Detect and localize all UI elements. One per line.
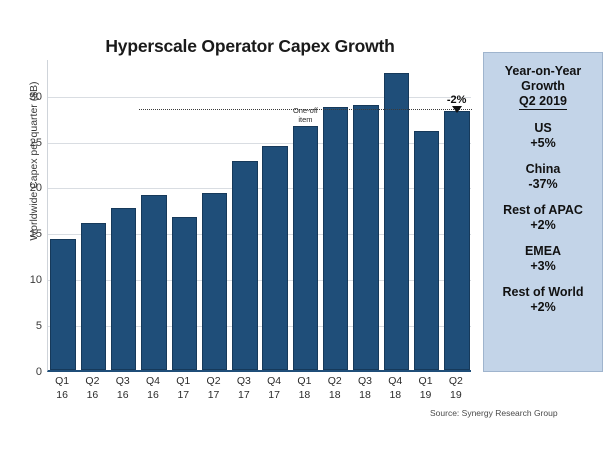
bar[interactable] — [202, 193, 227, 370]
bar-slot — [48, 60, 78, 370]
bar[interactable] — [81, 223, 106, 370]
bar-slot — [109, 60, 139, 370]
x-axis-tick-label: Q317 — [229, 374, 259, 402]
bar[interactable] — [384, 73, 409, 370]
bar-slot — [169, 60, 199, 370]
x-axis-tick-label: Q116 — [47, 374, 77, 402]
down-arrow-icon — [452, 106, 462, 113]
panel-region-item: Rest of World+2% — [484, 285, 602, 315]
x-axis-tick-label: Q217 — [198, 374, 228, 402]
bar[interactable] — [50, 239, 75, 370]
bar-slot — [351, 60, 381, 370]
bar-slot — [381, 60, 411, 370]
y-axis-tick-label: 5 — [36, 320, 42, 332]
x-axis-tick-label: Q216 — [77, 374, 107, 402]
bar-slot — [78, 60, 108, 370]
x-tick-quarter: Q2 — [198, 374, 228, 388]
bar-slot — [411, 60, 441, 370]
x-tick-year: 16 — [77, 388, 107, 402]
bar[interactable] — [141, 195, 166, 370]
bar[interactable] — [232, 161, 257, 370]
x-tick-year: 17 — [168, 388, 198, 402]
panel-region-name: Rest of World — [484, 285, 602, 300]
x-tick-year: 17 — [198, 388, 228, 402]
bar[interactable] — [414, 131, 439, 371]
bar[interactable] — [262, 146, 287, 370]
panel-heading-line1: Year-on-Year — [505, 64, 581, 78]
panel-region-name: China — [484, 162, 602, 177]
x-tick-quarter: Q1 — [410, 374, 440, 388]
x-tick-year: 18 — [320, 388, 350, 402]
x-tick-quarter: Q1 — [289, 374, 319, 388]
x-axis-tick-label: Q416 — [138, 374, 168, 402]
x-tick-year: 18 — [350, 388, 380, 402]
panel-region-name: EMEA — [484, 244, 602, 259]
panel-region-item: EMEA+3% — [484, 244, 602, 274]
x-tick-year: 19 — [410, 388, 440, 402]
plot-area: 051015202530 One-off item -2% — [47, 60, 471, 372]
x-tick-quarter: Q2 — [77, 374, 107, 388]
x-axis-tick-label: Q316 — [108, 374, 138, 402]
bar-series — [48, 60, 471, 370]
panel-region-item: China-37% — [484, 162, 602, 192]
x-axis-tick-label: Q117 — [168, 374, 198, 402]
one-off-item-line2: item — [298, 115, 312, 124]
bar[interactable] — [111, 208, 136, 370]
y-axis-tick-label: 0 — [36, 366, 42, 378]
y-axis-tick-label: 10 — [30, 274, 42, 286]
y-axis-tick-label: 15 — [30, 228, 42, 240]
panel-region-value: +5% — [484, 136, 602, 151]
panel-heading: Year-on-Year Growth Q2 2019 — [484, 64, 602, 110]
x-axis-tick-label: Q417 — [259, 374, 289, 402]
chart-figure: Hyperscale Operator Capex Growth Worldwi… — [0, 0, 610, 457]
x-axis-tick-label: Q119 — [410, 374, 440, 402]
panel-region-name: Rest of APAC — [484, 203, 602, 218]
panel-region-value: +3% — [484, 259, 602, 274]
panel-region-value: -37% — [484, 177, 602, 192]
yoy-growth-callout: -2% — [447, 94, 467, 106]
panel-region-item: Rest of APAC+2% — [484, 203, 602, 233]
x-axis-labels: Q116Q216Q316Q416Q117Q217Q317Q417Q118Q218… — [47, 374, 471, 408]
x-tick-quarter: Q3 — [108, 374, 138, 388]
x-axis-tick-label: Q318 — [350, 374, 380, 402]
x-tick-quarter: Q3 — [350, 374, 380, 388]
y-axis-tick-label: 20 — [30, 182, 42, 194]
source-note: Source: Synergy Research Group — [430, 408, 558, 418]
x-tick-year: 17 — [229, 388, 259, 402]
panel-heading-line2: Growth — [521, 79, 565, 93]
panel-period: Q2 2019 — [519, 94, 567, 110]
x-tick-year: 16 — [47, 388, 77, 402]
x-tick-quarter: Q4 — [380, 374, 410, 388]
bar[interactable] — [353, 105, 378, 370]
panel-region-item: US+5% — [484, 121, 602, 151]
panel-region-list: US+5%China-37%Rest of APAC+2%EMEA+3%Rest… — [484, 121, 602, 315]
x-tick-quarter: Q1 — [47, 374, 77, 388]
y-axis-tick-label: 30 — [30, 91, 42, 103]
x-tick-quarter: Q4 — [138, 374, 168, 388]
panel-region-name: US — [484, 121, 602, 136]
x-axis-tick-label: Q219 — [441, 374, 471, 402]
bar[interactable] — [172, 217, 197, 370]
x-tick-year: 16 — [138, 388, 168, 402]
x-tick-year: 18 — [289, 388, 319, 402]
x-axis-tick-label: Q418 — [380, 374, 410, 402]
x-tick-quarter: Q2 — [320, 374, 350, 388]
x-axis-tick-label: Q118 — [289, 374, 319, 402]
x-tick-quarter: Q2 — [441, 374, 471, 388]
x-tick-year: 17 — [259, 388, 289, 402]
chart-title: Hyperscale Operator Capex Growth — [40, 36, 460, 57]
x-axis-tick-label: Q218 — [320, 374, 350, 402]
x-tick-quarter: Q4 — [259, 374, 289, 388]
x-tick-year: 16 — [108, 388, 138, 402]
x-tick-quarter: Q1 — [168, 374, 198, 388]
bar-slot — [139, 60, 169, 370]
y-axis-title: Worldwide Capex per quarter ($B) — [28, 41, 40, 281]
bar[interactable] — [323, 107, 348, 370]
panel-region-value: +2% — [484, 300, 602, 315]
bar-slot — [199, 60, 229, 370]
panel-region-value: +2% — [484, 218, 602, 233]
reference-line — [139, 109, 472, 110]
x-tick-year: 19 — [441, 388, 471, 402]
x-tick-year: 18 — [380, 388, 410, 402]
one-off-item-line1: One-off — [293, 106, 318, 115]
bar[interactable] — [444, 111, 469, 370]
year-on-year-growth-panel: Year-on-Year Growth Q2 2019 US+5%China-3… — [483, 52, 603, 372]
bar-slot — [230, 60, 260, 370]
x-tick-quarter: Q3 — [229, 374, 259, 388]
y-axis-tick-label: 25 — [30, 137, 42, 149]
bar[interactable] — [293, 126, 318, 370]
